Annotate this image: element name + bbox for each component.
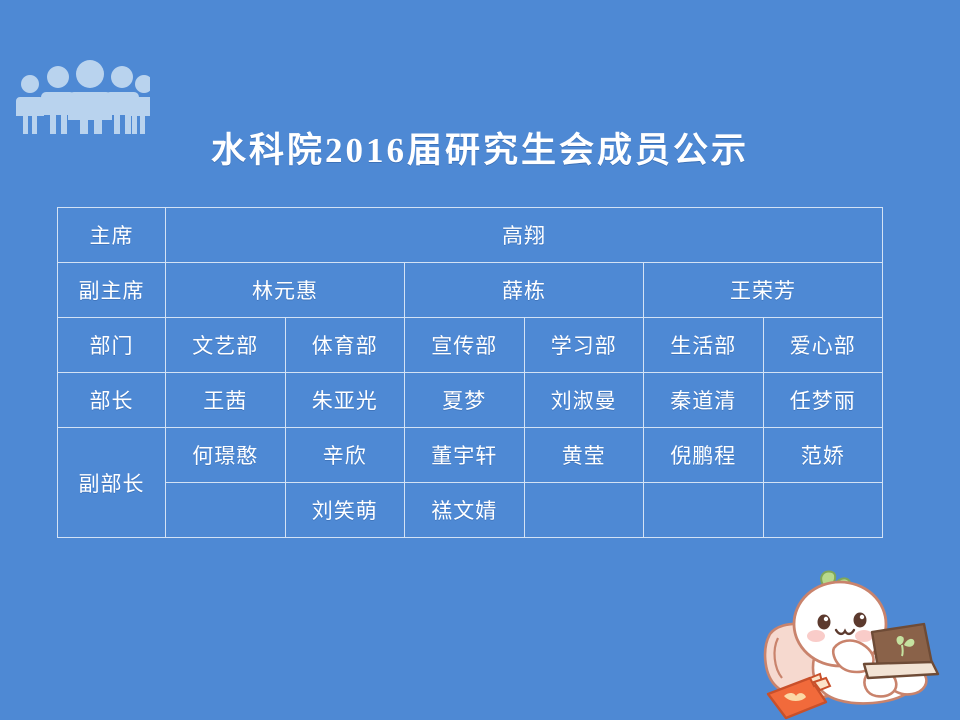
page-title: 水科院2016届研究生会成员公示 [0, 122, 960, 173]
table-row: 刘笑萌 禚文婧 [58, 483, 883, 538]
cell-department-3: 宣传部 [405, 318, 525, 373]
cell-department-1: 文艺部 [166, 318, 286, 373]
cell-deputy-head-extra-1 [166, 483, 286, 538]
cell-department-2: 体育部 [285, 318, 405, 373]
table-row: 部长 王茜 朱亚光 夏梦 刘淑曼 秦道清 任梦丽 [58, 373, 883, 428]
cell-department-6: 爱心部 [763, 318, 883, 373]
member-table: 主席 高翔 副主席 林元惠 薛栋 王荣芳 部门 文艺部 体育部 宣传部 学习部 … [57, 207, 883, 538]
cartoon-bunny-with-laptop-icon [752, 562, 960, 720]
cell-head-1: 王茜 [166, 373, 286, 428]
cell-head-5: 秦道清 [644, 373, 764, 428]
cell-vice-chairman-1: 林元惠 [166, 263, 405, 318]
cell-deputy-head-extra-5 [644, 483, 764, 538]
cell-vice-chairman-3: 王荣芳 [644, 263, 883, 318]
cell-deputy-head-extra-3: 禚文婧 [405, 483, 525, 538]
table-row: 部门 文艺部 体育部 宣传部 学习部 生活部 爱心部 [58, 318, 883, 373]
table-row: 主席 高翔 [58, 208, 883, 263]
cell-deputy-head-1: 何璟憨 [166, 428, 286, 483]
row-label-department: 部门 [58, 318, 166, 373]
cell-chairman-name: 高翔 [166, 208, 883, 263]
cell-deputy-head-extra-2: 刘笑萌 [285, 483, 405, 538]
cell-department-4: 学习部 [524, 318, 644, 373]
table-row: 副部长 何璟憨 辛欣 董宇轩 黄莹 倪鹏程 范娇 [58, 428, 883, 483]
table-row: 副主席 林元惠 薛栋 王荣芳 [58, 263, 883, 318]
cell-deputy-head-4: 黄莹 [524, 428, 644, 483]
cell-head-6: 任梦丽 [763, 373, 883, 428]
cell-deputy-head-2: 辛欣 [285, 428, 405, 483]
row-label-head: 部长 [58, 373, 166, 428]
row-label-vice-chairman: 副主席 [58, 263, 166, 318]
member-table-body: 主席 高翔 副主席 林元惠 薛栋 王荣芳 部门 文艺部 体育部 宣传部 学习部 … [58, 208, 883, 538]
cell-vice-chairman-2: 薛栋 [405, 263, 644, 318]
cell-deputy-head-extra-6 [763, 483, 883, 538]
cell-head-3: 夏梦 [405, 373, 525, 428]
cell-deputy-head-3: 董宇轩 [405, 428, 525, 483]
cell-department-5: 生活部 [644, 318, 764, 373]
row-label-chairman: 主席 [58, 208, 166, 263]
cell-deputy-head-extra-4 [524, 483, 644, 538]
cell-head-4: 刘淑曼 [524, 373, 644, 428]
row-label-deputy-head: 副部长 [58, 428, 166, 538]
cell-deputy-head-5: 倪鹏程 [644, 428, 764, 483]
cell-deputy-head-6: 范娇 [763, 428, 883, 483]
cell-head-2: 朱亚光 [285, 373, 405, 428]
